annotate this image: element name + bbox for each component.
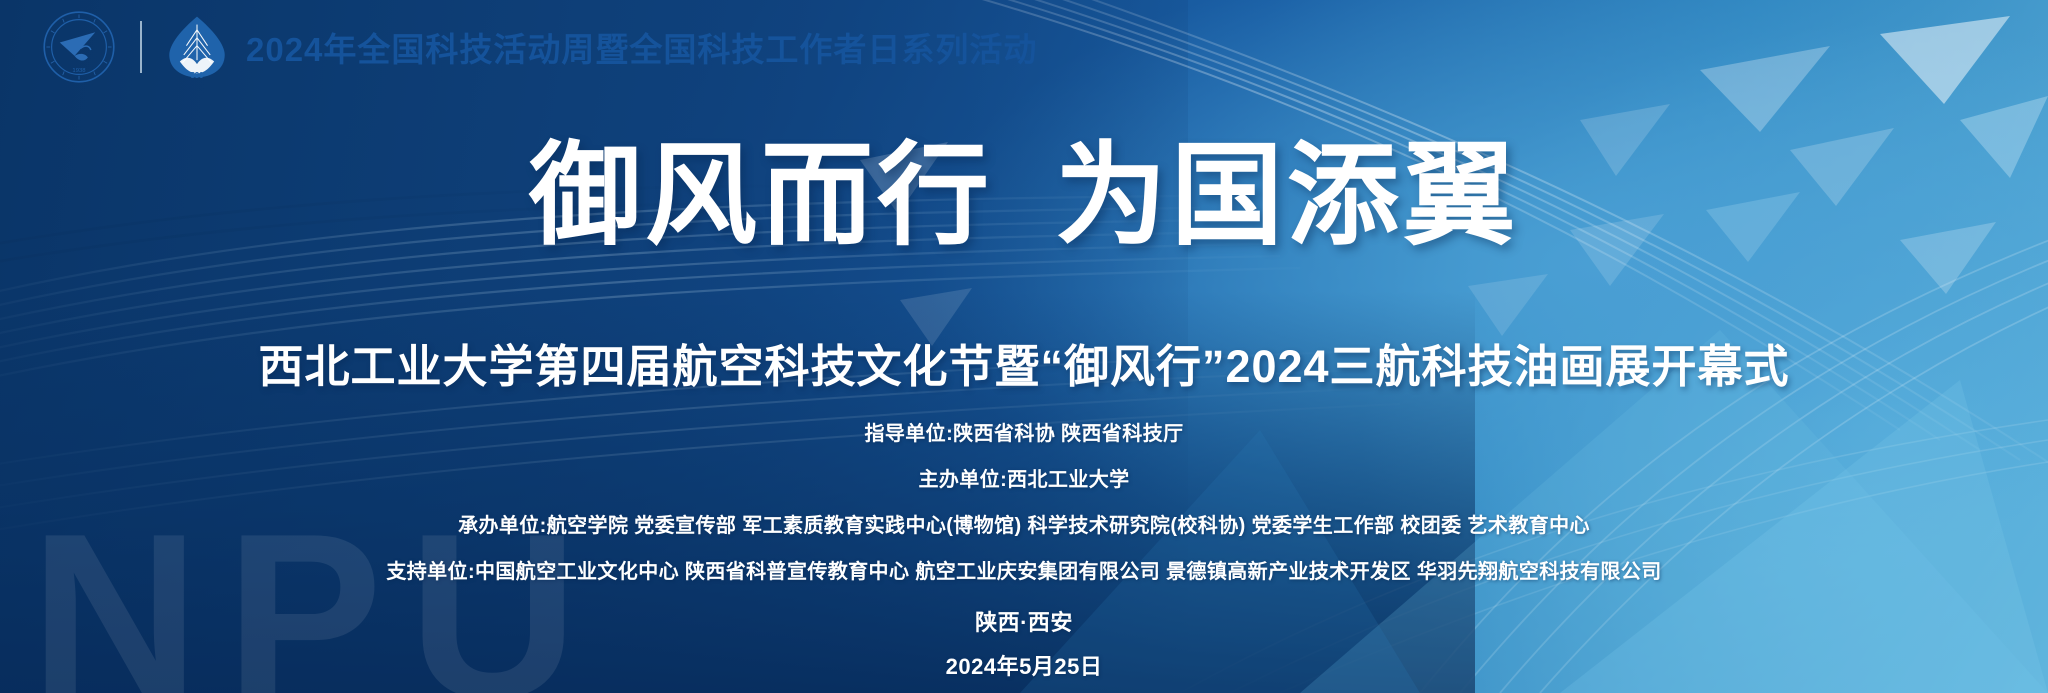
footer-date: 2024年5月25日 bbox=[0, 656, 2048, 678]
main-title: 御风而行为国添翼 bbox=[0, 130, 2048, 262]
sub-title: 西北工业大学第四届航空科技文化节暨“御风行”2024三航科技油画展开幕式 bbox=[0, 330, 2048, 395]
footer-block: 陕西·西安 2024年5月25日 bbox=[0, 612, 2048, 678]
header-title: 2024年全国科技活动周暨全国科技工作者日系列活动 bbox=[246, 23, 1037, 71]
banner-header: 1938 530 2024年全国科技活动周暨全国科技工作者日系列活动 bbox=[0, 0, 2048, 94]
credit-line-host: 主办单位:西北工业大学 bbox=[0, 470, 2048, 490]
credit-line-guidance: 指导单位:陕西省科协 陕西省科技厅 bbox=[0, 424, 2048, 444]
credit-line-organizers: 承办单位:航空学院 党委宣传部 军工素质教育实践中心(博物馆) 科学技术研究院(… bbox=[0, 516, 2048, 536]
credit-line-supporters: 支持单位:中国航空工业文化中心 陕西省科普宣传教育中心 航空工业庆安集团有限公司… bbox=[0, 562, 2048, 582]
event-banner: NPU 1938 bbox=[0, 0, 2048, 693]
seal-year: 1938 bbox=[72, 68, 86, 74]
credits-block: 指导单位:陕西省科协 陕西省科技厅 主办单位:西北工业大学 承办单位:航空学院 … bbox=[0, 424, 2048, 582]
main-title-left: 御风而行 bbox=[529, 133, 993, 258]
science-week-emblem-icon: 530 bbox=[164, 14, 230, 80]
header-divider bbox=[140, 21, 142, 73]
npu-university-seal-icon: 1938 bbox=[42, 10, 116, 84]
main-title-right: 为国添翼 bbox=[1055, 133, 1519, 258]
week-mark-number: 530 bbox=[190, 71, 204, 80]
footer-location: 陕西·西安 bbox=[0, 612, 2048, 634]
